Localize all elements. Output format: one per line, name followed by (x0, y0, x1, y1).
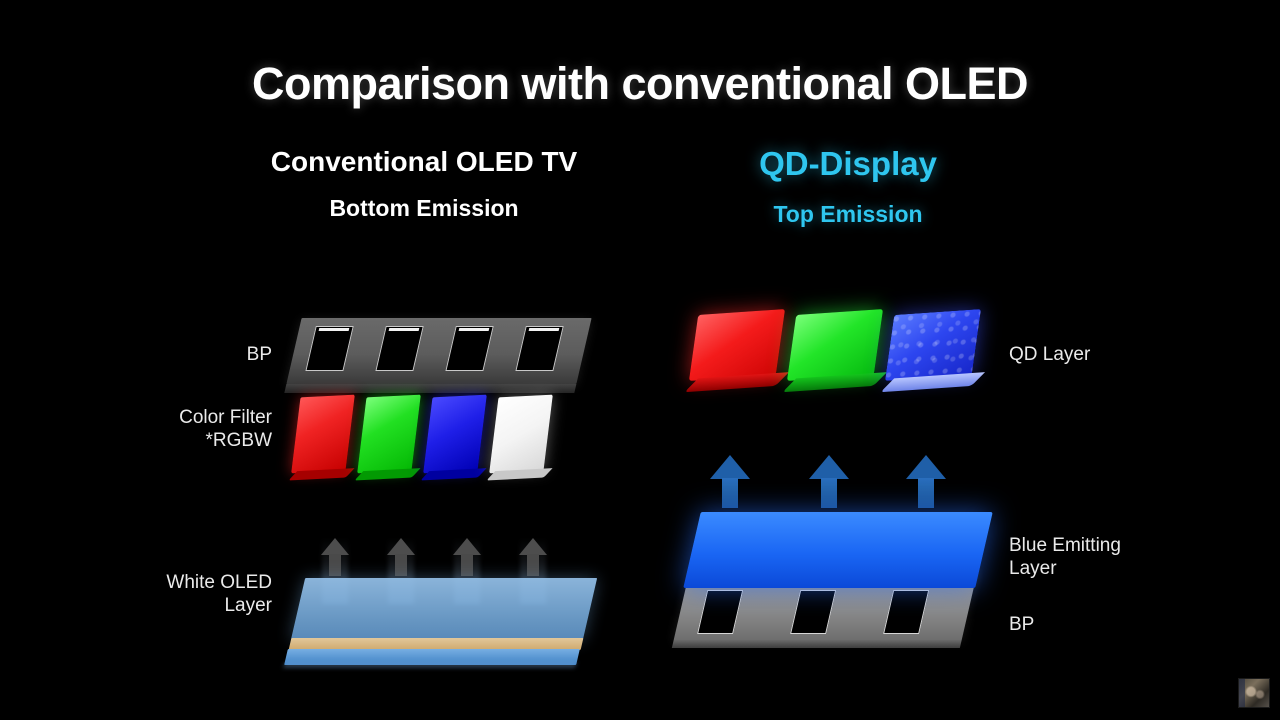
diagram-qd-display (680, 300, 1010, 670)
column-title-conventional: Conventional OLED TV (244, 146, 604, 177)
label-blue-emitting-layer: Blue Emitting Layer (1009, 534, 1121, 580)
color-filter-tile-blue (423, 395, 487, 474)
white-oled-layer-top (291, 578, 597, 640)
layer-shadow (283, 662, 576, 668)
blue-emitting-layer (683, 512, 993, 588)
bp-aperture (445, 326, 493, 371)
presenter-thumbnail (1238, 678, 1270, 708)
bp-aperture (515, 326, 563, 371)
label-bp-right: BP (1009, 613, 1034, 636)
bp-aperture (790, 590, 836, 634)
bp-panel-left (286, 318, 591, 384)
diagram-conventional-oled (280, 300, 610, 680)
bp-aperture (305, 326, 353, 371)
color-filter-tile-white (489, 395, 553, 474)
column-subtitle-top-emission: Top Emission (668, 201, 1028, 228)
slide-root: Comparison with conventional OLED Conven… (0, 0, 1280, 720)
qd-tile-red (689, 309, 785, 381)
color-filter-tile-green (357, 395, 421, 474)
label-bp-left: BP (247, 343, 272, 366)
page-title: Comparison with conventional OLED (0, 58, 1280, 110)
bp-aperture (375, 326, 423, 371)
column-header-conventional: Conventional OLED TV Bottom Emission (244, 146, 604, 222)
column-header-qd-display: QD-Display Top Emission (668, 146, 1028, 228)
label-qd-layer: QD Layer (1009, 343, 1090, 366)
qd-tile-blue (885, 309, 981, 381)
color-filter-tile-red (291, 395, 355, 474)
label-white-oled-layer: White OLED Layer (166, 571, 272, 617)
label-color-filter: Color Filter *RGBW (179, 406, 272, 452)
column-subtitle-bottom-emission: Bottom Emission (244, 195, 604, 222)
bp-aperture (697, 590, 743, 634)
qd-tile-green (787, 309, 883, 381)
bp-aperture (883, 590, 929, 634)
column-title-qd-display: QD-Display (668, 146, 1028, 183)
